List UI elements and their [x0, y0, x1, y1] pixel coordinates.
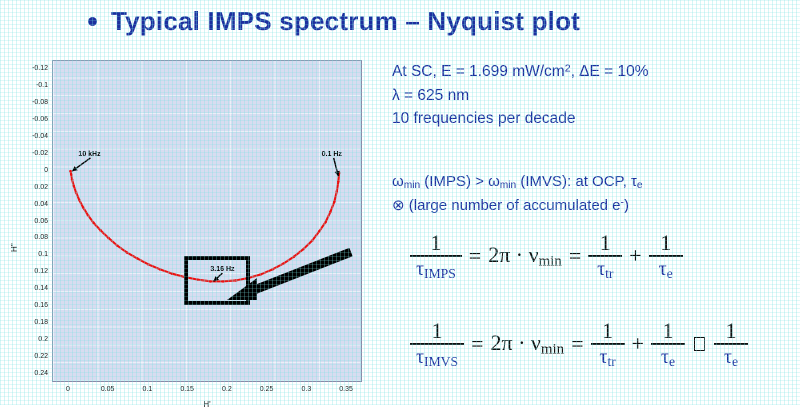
equals-sign: =	[469, 243, 481, 269]
page-title-text: Typical IMPS spectrum – Nyquist plot	[111, 6, 580, 37]
y-tick-label: -0.1	[36, 82, 48, 89]
fraction: 1τtr	[588, 232, 622, 281]
y-tick-label: 0.08	[34, 234, 48, 241]
equals-sign: =	[471, 331, 483, 357]
tau-subscript-e: e	[637, 180, 643, 191]
x-tick-label: 0	[66, 386, 70, 393]
y-tick-label: 0.22	[34, 353, 48, 360]
y-tick-label: 0.2	[38, 336, 48, 343]
y-tick-label: 0.02	[34, 184, 48, 191]
plus-sign: +	[629, 243, 641, 269]
missing-glyph-box-icon	[694, 337, 705, 351]
equation-imps: 1τIMPS=2π · νmin=1τtr+1τe	[410, 232, 683, 281]
two-pi-nu-term: 2π · νmin	[488, 242, 562, 270]
numerator-e: 1	[656, 320, 679, 343]
numerator-tr: 1	[594, 232, 617, 255]
y-tick-label: 0.16	[34, 302, 48, 309]
omega-note-accumulated: (large number of accumulated e	[405, 197, 621, 214]
omega-note-imps: (IMPS) >	[420, 173, 488, 190]
fraction: 1τIMPS	[410, 232, 462, 281]
omega-note-line-2: ⊗ (large number of accumulated e-)	[392, 194, 643, 217]
fraction: 1τtr	[591, 320, 625, 369]
denominator-tau-tr: τtr	[591, 257, 619, 281]
fraction: 1τe	[649, 232, 683, 281]
bullet-dot-icon	[88, 17, 97, 26]
y-tick-label: 0	[44, 167, 48, 174]
denominator-tau: τIMPS	[410, 257, 462, 281]
y-tick-label: 0.24	[34, 370, 48, 377]
y-tick-label: 0.18	[34, 319, 48, 326]
y-tick-label: 0.1	[38, 251, 48, 258]
x-tick-label: 0.05	[101, 386, 115, 393]
x-tick-label: 0.25	[260, 386, 274, 393]
circled-times-icon: ⊗	[392, 197, 405, 214]
equals-sign-2: =	[569, 243, 581, 269]
nyquist-plot: -0.12-0.1-0.08-0.06-0.04-0.0200.020.040.…	[4, 56, 376, 401]
numerator: 1	[424, 232, 447, 255]
condition-line-1-suffix: , ΔE = 10%	[571, 63, 649, 80]
omega-subscript-min-2: min	[500, 180, 516, 191]
denominator-tau: τIMVS	[410, 345, 464, 369]
fraction: 1τe	[714, 320, 748, 369]
y-tick-label: -0.08	[32, 99, 48, 106]
numerator-e: 1	[654, 232, 677, 255]
numerator: 1	[426, 320, 449, 343]
two-pi-nu-term: 2π · νmin	[490, 330, 564, 358]
y-axis-title: H''	[10, 243, 19, 252]
plus-sign: +	[632, 331, 644, 357]
y-tick-label: -0.12	[32, 65, 48, 72]
y-tick-label: 0.12	[34, 268, 48, 275]
numerator-e2: 1	[719, 320, 742, 343]
plot-area: 10 kHz0.1 Hz3.16 Hz	[52, 60, 362, 382]
omega-comparison-note: ωmin (IMPS) > ωmin (IMVS): at OCP, τe ⊗ …	[392, 170, 643, 217]
equals-sign-2: =	[571, 331, 583, 357]
x-tick-label: 0.15	[180, 386, 194, 393]
fraction: 1τIMVS	[410, 320, 464, 369]
x-tick-label: 0.35	[339, 386, 353, 393]
page-title: Typical IMPS spectrum – Nyquist plot	[88, 6, 580, 37]
omega-note-close-paren: )	[624, 197, 629, 214]
denominator-tau-tr: τtr	[593, 345, 621, 369]
omega-subscript-min: min	[404, 180, 420, 191]
denominator-tau-e: τe	[653, 257, 679, 281]
x-tick-label: 0.2	[222, 386, 232, 393]
denominator-tau-e: τe	[655, 345, 681, 369]
y-tick-label: 0.06	[34, 218, 48, 225]
omega-symbol-2: ω	[488, 173, 500, 190]
omega-note-line-1: ωmin (IMPS) > ωmin (IMVS): at OCP, τe	[392, 170, 643, 194]
frequency-annotation: 10 kHz	[78, 151, 100, 158]
pointer-arrow-icon	[223, 248, 353, 318]
data-curve	[53, 61, 363, 383]
y-tick-label: -0.04	[32, 133, 48, 140]
condition-line-1: At SC, E = 1.699 mW/cm2, ΔE = 10%	[392, 60, 649, 84]
y-axis-tick-labels: -0.12-0.1-0.08-0.06-0.04-0.0200.020.040.…	[4, 56, 50, 386]
y-tick-label: 0.14	[34, 285, 48, 292]
frequency-annotation: 0.1 Hz	[322, 151, 342, 158]
y-tick-label: -0.02	[32, 150, 48, 157]
x-axis-tick-labels: 00.050.10.150.20.250.30.35	[44, 386, 374, 400]
numerator-tr: 1	[596, 320, 619, 343]
fraction: 1τe	[651, 320, 685, 369]
omega-note-imvs: (IMVS): at OCP, τ	[516, 173, 637, 190]
x-tick-label: 0.3	[301, 386, 311, 393]
condition-line-3: 10 frequencies per decade	[392, 107, 649, 131]
condition-line-1-prefix: At SC, E = 1.699 mW/cm	[392, 63, 565, 80]
equation-imvs: 1τIMVS=2π · νmin=1τtr+1τe1τe	[410, 320, 748, 369]
x-tick-label: 0.1	[143, 386, 153, 393]
denominator-tau-e2: τe	[718, 345, 744, 369]
omega-symbol: ω	[392, 173, 404, 190]
experimental-conditions: At SC, E = 1.699 mW/cm2, ΔE = 10% λ = 62…	[392, 60, 649, 131]
y-tick-label: -0.06	[32, 116, 48, 123]
y-tick-label: 0.04	[34, 201, 48, 208]
condition-line-2: λ = 625 nm	[392, 84, 649, 108]
